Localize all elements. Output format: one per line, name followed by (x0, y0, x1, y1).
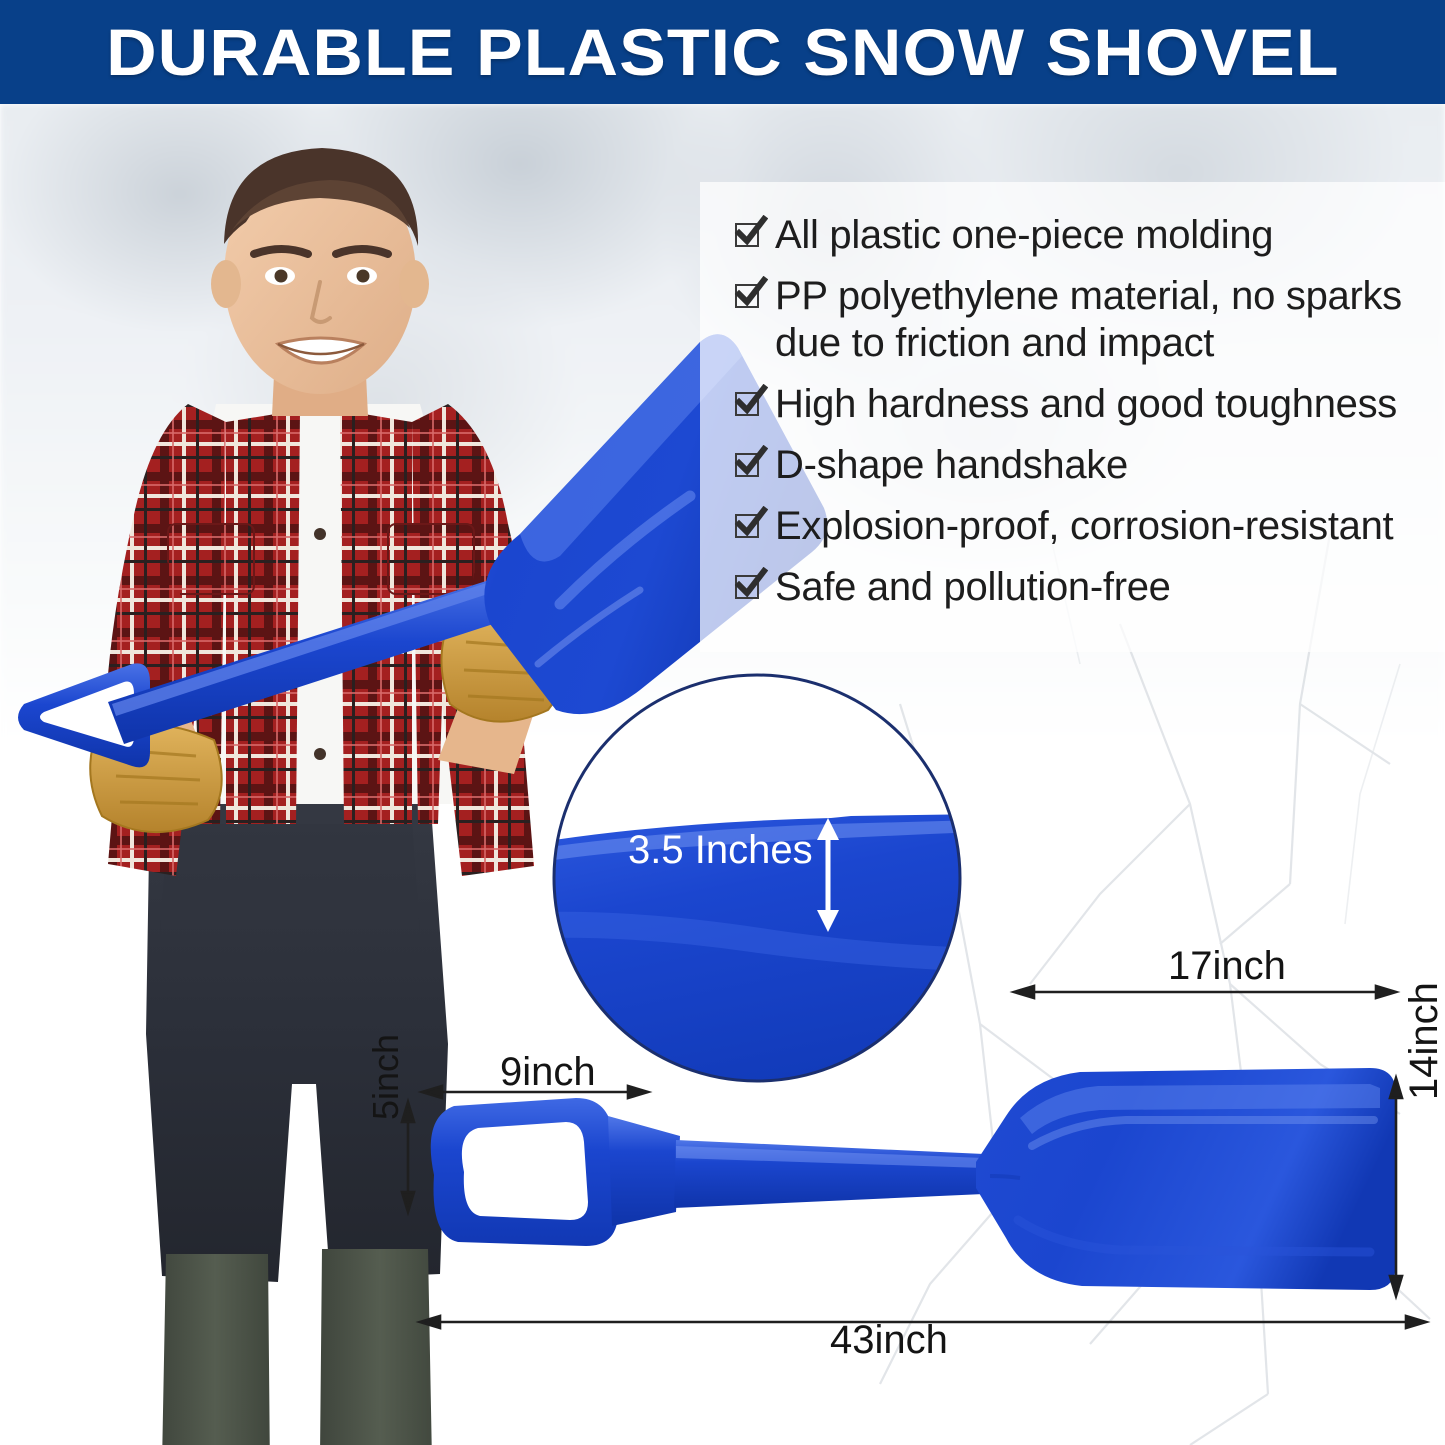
total-length-label: 43inch (830, 1318, 948, 1363)
feature-item: Explosion-proof, corrosion-resistant (735, 503, 1445, 550)
feature-list: All plastic one-piece molding PP polyeth… (735, 212, 1445, 625)
thickness-magnifier-callout (551, 672, 963, 1084)
feature-item: D-shape handshake (735, 442, 1445, 489)
feature-item: High hardness and good toughness (735, 381, 1445, 428)
feature-text: Safe and pollution-free (775, 564, 1171, 611)
checkbox-checked-icon (735, 284, 761, 310)
feature-text: Explosion-proof, corrosion-resistant (775, 503, 1393, 550)
feature-item: Safe and pollution-free (735, 564, 1445, 611)
feature-text: High hardness and good toughness (775, 381, 1397, 428)
feature-text: All plastic one-piece molding (775, 212, 1273, 259)
feature-item: All plastic one-piece molding (735, 212, 1445, 259)
header-banner: DURABLE PLASTIC SNOW SHOVEL (0, 0, 1445, 104)
checkbox-checked-icon (735, 392, 761, 418)
checkbox-checked-icon (735, 514, 761, 540)
blade-height-label: 14inch (1402, 982, 1445, 1100)
blade-width-label: 17inch (1168, 944, 1286, 989)
feature-text: PP polyethylene material, no sparks due … (775, 273, 1445, 367)
checkbox-checked-icon (735, 223, 761, 249)
handle-height-label: 5inch (365, 1034, 407, 1120)
feature-item: PP polyethylene material, no sparks due … (735, 273, 1445, 367)
page-title: DURABLE PLASTIC SNOW SHOVEL (106, 14, 1340, 90)
feature-text: D-shape handshake (775, 442, 1128, 489)
checkbox-checked-icon (735, 575, 761, 601)
thickness-label: 3.5 Inches (628, 828, 813, 873)
handle-width-label: 9inch (500, 1050, 596, 1095)
infographic-canvas: All plastic one-piece molding PP polyeth… (0, 0, 1445, 1445)
checkbox-checked-icon (735, 453, 761, 479)
